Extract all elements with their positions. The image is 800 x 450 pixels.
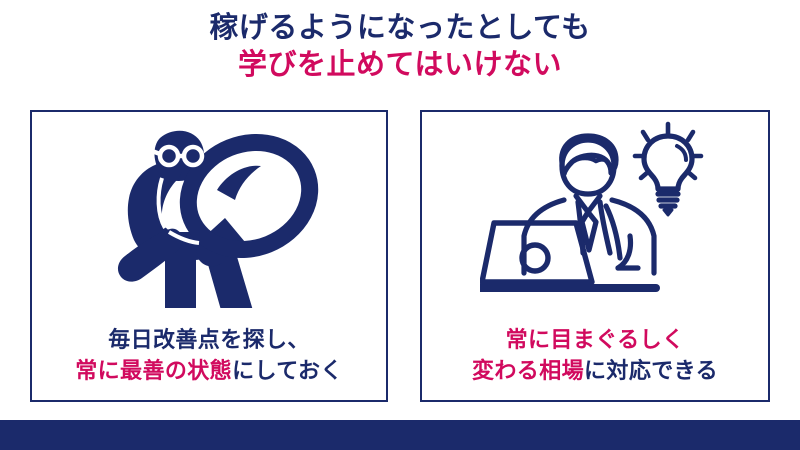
caption-segment: 変わる相場 [472,358,584,383]
businessman-at-laptop-with-idea-lightbulb-icon [480,118,710,308]
title-line-2: 学びを止めてはいけない [0,47,800,84]
panel-right-caption-line-1: 常に目まぐるしく [422,324,768,355]
bottom-accent-bar [0,420,800,450]
caption-segment: 毎日改善点を探し、 [108,327,310,352]
page-title: 稼げるようになったとしても 学びを止めてはいけない [0,10,800,84]
panel-right: 常に目まぐるしく 変わる相場に対応できる [420,110,770,402]
panel-left: 毎日改善点を探し、 常に最善の状態にしておく [30,110,388,402]
title-line-1: 稼げるようになったとしても [0,10,800,47]
person-with-magnifying-glass-icon [99,118,319,308]
panel-left-caption: 毎日改善点を探し、 常に最善の状態にしておく [32,324,386,386]
caption-segment: 常に目まぐるしく [506,327,685,352]
panel-left-caption-line-2: 常に最善の状態にしておく [32,355,386,386]
panel-right-caption-line-2: 変わる相場に対応できる [422,355,768,386]
slide-root: 稼げるようになったとしても 学びを止めてはいけない [0,0,800,450]
panel-right-illustration [422,114,768,312]
caption-segment: にしておく [232,358,343,383]
panel-right-caption: 常に目まぐるしく 変わる相場に対応できる [422,324,768,386]
panel-left-caption-line-1: 毎日改善点を探し、 [32,324,386,355]
panel-left-illustration [32,114,386,312]
caption-segment: 常に最善の状態 [75,358,232,383]
caption-segment: に対応できる [584,358,718,383]
